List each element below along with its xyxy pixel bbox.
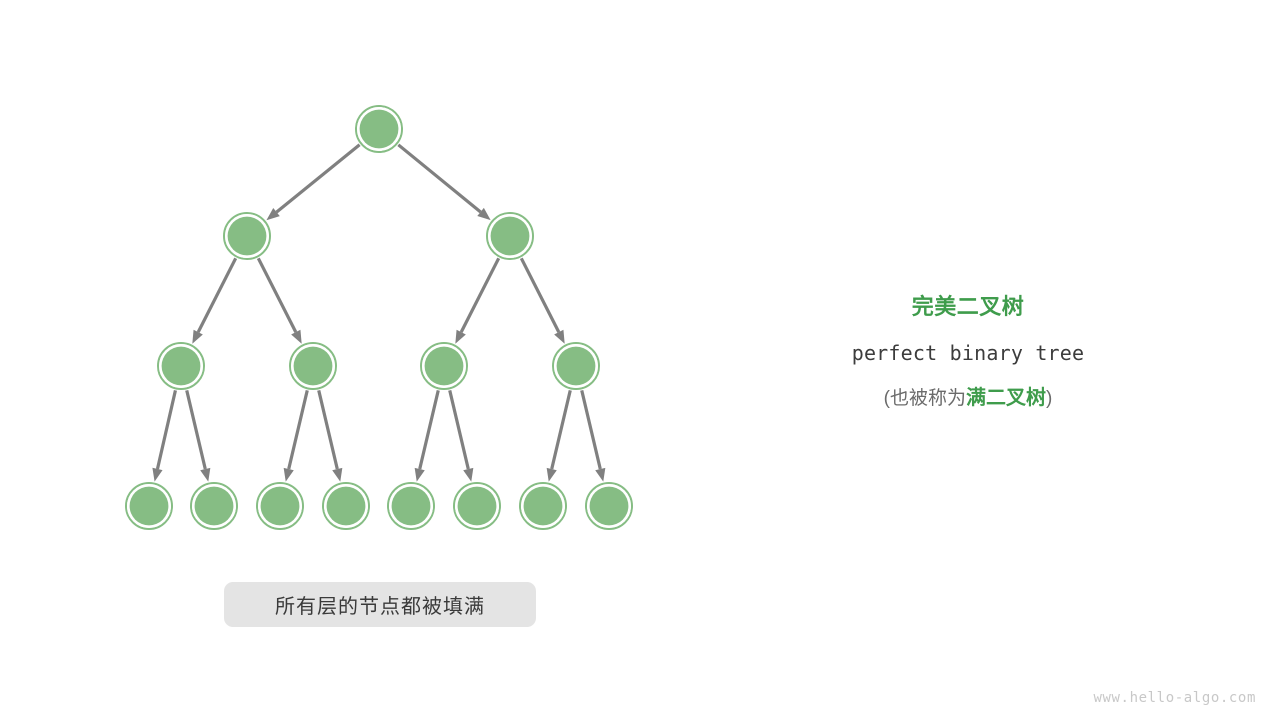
legend-alias: (也被称为满二叉树) xyxy=(818,383,1118,414)
tree-edge-arrowhead xyxy=(455,330,466,344)
tree-node xyxy=(586,483,632,529)
tree-edge-arrowhead xyxy=(332,468,342,482)
tree-edge xyxy=(187,390,206,469)
tree-node xyxy=(126,483,172,529)
legend-alias-strong: 满二叉树 xyxy=(966,387,1046,409)
watermark: www.hello-algo.com xyxy=(1093,690,1256,706)
tree-node xyxy=(257,483,303,529)
tree-edge-arrowhead xyxy=(547,468,557,482)
tree-edge-arrowhead xyxy=(415,468,425,482)
tree-node xyxy=(323,483,369,529)
tree-edge xyxy=(277,145,360,212)
tree-edge xyxy=(258,258,295,332)
tree-edge-arrowhead xyxy=(200,468,210,482)
tree-node xyxy=(356,106,402,152)
node-layer xyxy=(126,106,632,529)
tree-edge-arrowhead xyxy=(284,468,294,482)
legend-alias-prefix: (也被称为 xyxy=(884,388,966,409)
tree-node xyxy=(553,343,599,389)
tree-node xyxy=(388,483,434,529)
tree-edge-arrowhead xyxy=(554,330,565,344)
tree-node xyxy=(454,483,500,529)
tree-edge-arrowhead xyxy=(152,468,162,482)
legend-subtitle: perfect binary tree xyxy=(818,336,1118,370)
tree-edge-arrowhead xyxy=(463,468,473,482)
tree-node xyxy=(158,343,204,389)
tree-edge xyxy=(552,390,571,469)
tree-edge xyxy=(198,258,235,332)
tree-edge xyxy=(450,390,469,469)
legend-title: 完美二叉树 xyxy=(818,292,1118,322)
tree-edge-arrowhead xyxy=(291,330,302,344)
caption-pill: 所有层的节点都被填满 xyxy=(224,582,536,627)
tree-node xyxy=(487,213,533,259)
edge-layer xyxy=(152,145,605,482)
tree-node xyxy=(191,483,237,529)
perfect-binary-tree-diagram: 完美二叉树 perfect binary tree (也被称为满二叉树) 所有层… xyxy=(0,0,1280,720)
tree-edge xyxy=(289,390,308,469)
tree-edge xyxy=(420,390,439,469)
tree-edge xyxy=(521,258,558,332)
tree-edge xyxy=(319,390,338,469)
tree-node xyxy=(290,343,336,389)
caption-text: 所有层的节点都被填满 xyxy=(275,590,485,619)
tree-edge xyxy=(398,145,480,212)
tree-edge xyxy=(157,390,175,469)
tree-edge xyxy=(461,258,498,332)
legend-alias-suffix: ) xyxy=(1046,388,1052,409)
tree-node xyxy=(224,213,270,259)
tree-edge-arrowhead xyxy=(595,468,605,482)
tree-node xyxy=(520,483,566,529)
legend-block: 完美二叉树 perfect binary tree (也被称为满二叉树) xyxy=(818,292,1118,414)
tree-edge xyxy=(582,390,601,469)
tree-node xyxy=(421,343,467,389)
tree-edge-arrowhead xyxy=(192,330,203,344)
